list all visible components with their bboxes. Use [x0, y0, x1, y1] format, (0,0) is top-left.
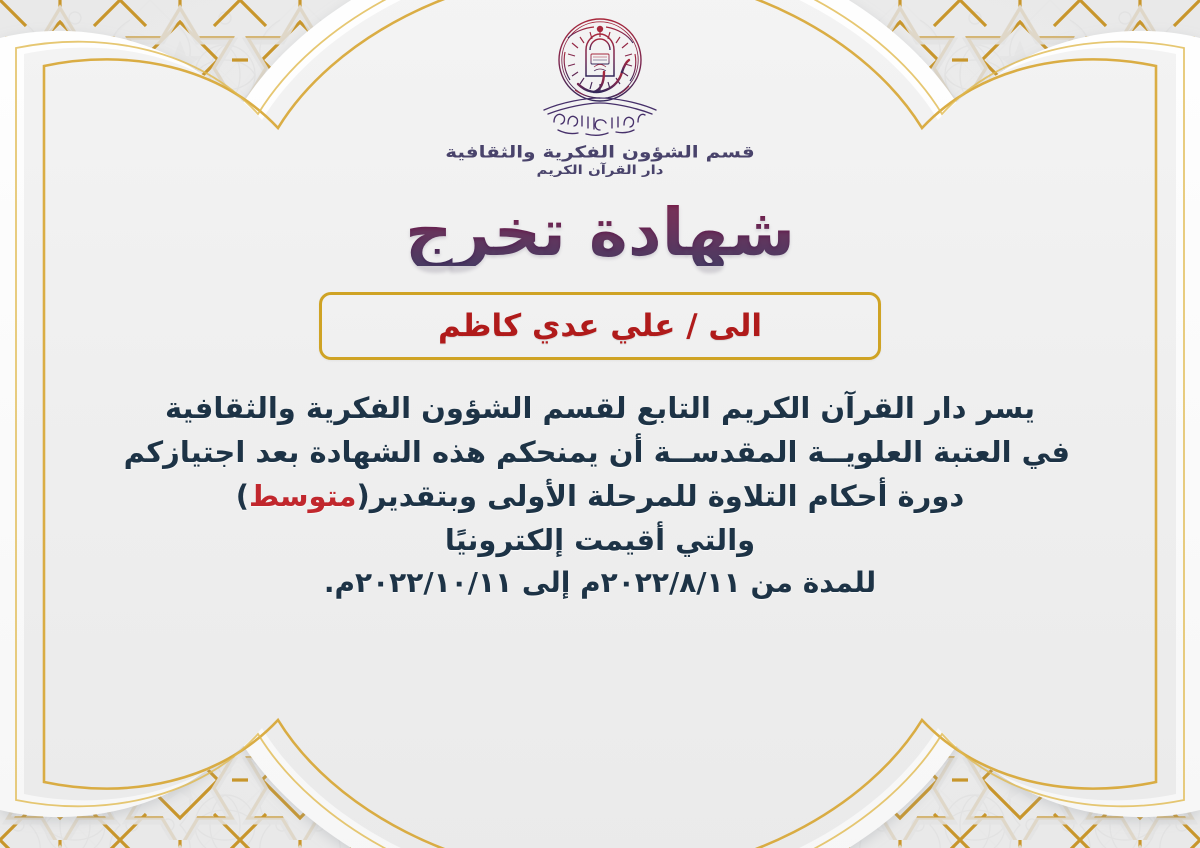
body-line-3: دورة أحكام التلاوة للمرحلة الأولى وبتقدي… — [130, 474, 1070, 518]
sublogo-block: قسم الشؤون الفكرية والثقافية دار القرآن … — [445, 142, 755, 178]
body-line-4: والتي أقيمت إلكترونيًا — [130, 518, 1070, 562]
page-title: شهادة تخرج — [405, 200, 795, 266]
grade-value: متوسط — [249, 479, 357, 513]
body-line-3-before: دورة أحكام التلاوة للمرحلة الأولى وبتقدي… — [357, 479, 965, 513]
certificate-content: قسم الشؤون الفكرية والثقافية دار القرآن … — [0, 0, 1200, 848]
certificate-canvas: قسم الشؤون الفكرية والثقافية دار القرآن … — [0, 0, 1200, 848]
body-line-1: يسر دار القرآن الكريم التابع لقسم الشؤون… — [130, 386, 1070, 430]
body-line-3-after: ) — [236, 479, 249, 513]
recipient-name-box: الى / علي عدي كاظم — [319, 292, 881, 360]
sublogo-department: قسم الشؤون الفكرية والثقافية — [445, 144, 755, 160]
body-line-5-dates: للمدة من ٢٠٢٢/٨/١١م إلى ٢٠٢٢/١٠/١١م. — [130, 562, 1070, 605]
sublogo-unit: دار القرآن الكريم — [537, 164, 664, 176]
emblem-block: قسم الشؤون الفكرية والثقافية دار القرآن … — [445, 10, 755, 178]
recipient-name: الى / علي عدي كاظم — [438, 308, 762, 344]
body-line-2: في العتبة العلويــة المقدســة أن يمنحكم … — [130, 430, 1070, 474]
certificate-body: يسر دار القرآن الكريم التابع لقسم الشؤون… — [130, 386, 1070, 605]
shrine-emblem-icon — [534, 10, 666, 140]
